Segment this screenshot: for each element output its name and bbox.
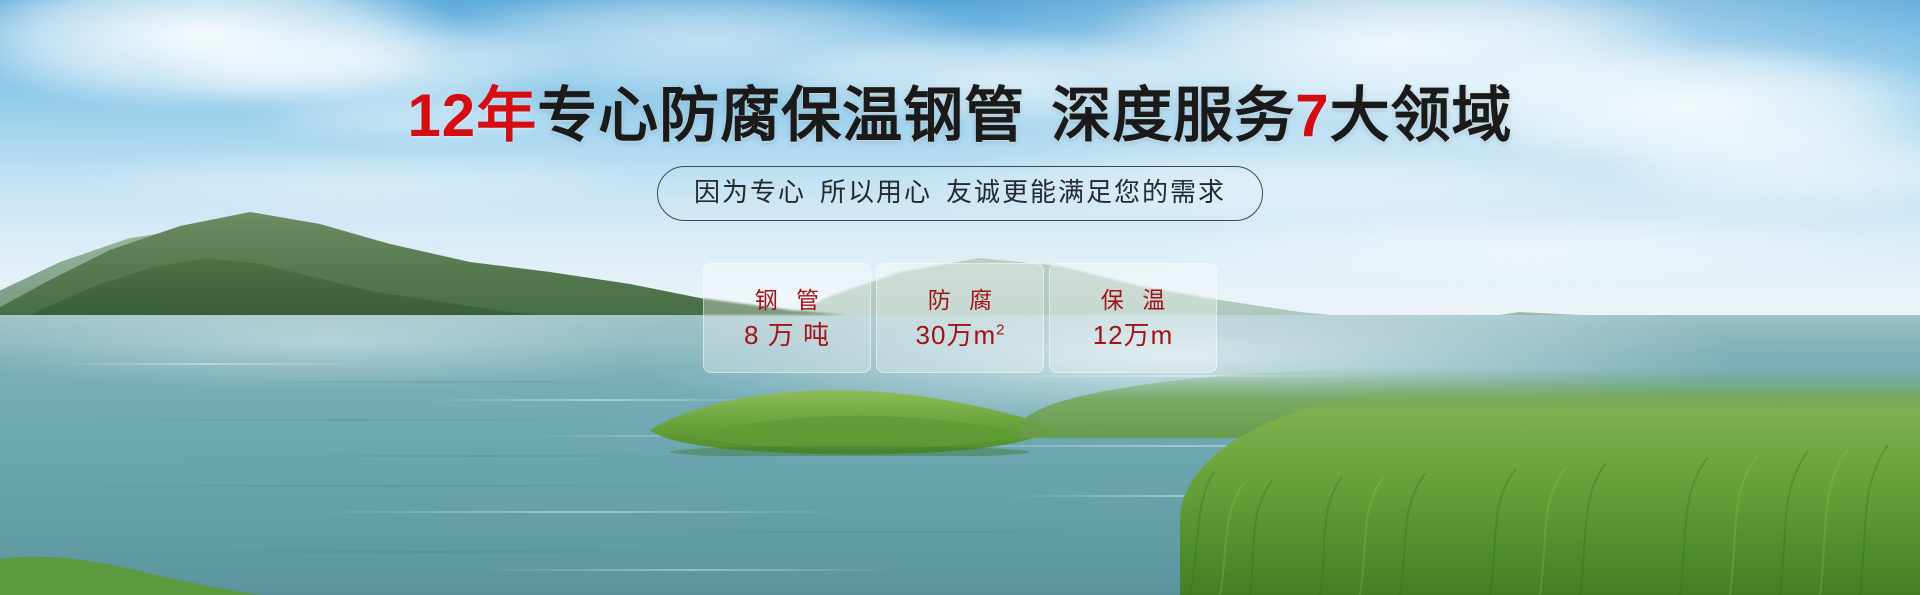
- stat-card-value: 8 万 吨: [744, 322, 830, 348]
- subtitle-container: 因为专心所以用心友诚更能满足您的需求: [0, 166, 1920, 221]
- headline-part-two: 深度服务: [1051, 82, 1295, 149]
- subtitle-segment-2: 所以用心: [820, 177, 932, 207]
- subtitle-segment-3: 友诚更能满足您的需求: [946, 177, 1226, 207]
- left-foreground-grass: [0, 515, 260, 595]
- headline-part-three: 大领域: [1330, 82, 1513, 149]
- grass-islet: [640, 378, 1060, 456]
- stat-card-value: 30万m2: [916, 322, 1005, 348]
- stat-card-insulation: 保 温 12万m: [1049, 263, 1217, 373]
- subtitle-pill: 因为专心所以用心友诚更能满足您的需求: [657, 166, 1263, 221]
- page-title: 12年专心防腐保温钢管深度服务7大领域: [0, 86, 1920, 146]
- grass-texture: [1160, 385, 1920, 595]
- headline-years-unit: 年: [476, 82, 537, 149]
- headline-seven-number: 7: [1295, 82, 1329, 149]
- stat-card-group: 钢 管 8 万 吨 防 腐 30万m2 保 温 12万m: [0, 263, 1920, 373]
- stat-card-steel-pipe: 钢 管 8 万 吨: [703, 263, 871, 373]
- stat-card-label: 防 腐: [922, 289, 998, 312]
- stat-card-value: 12万m: [1093, 322, 1174, 348]
- stat-card-label: 钢 管: [749, 289, 825, 312]
- headline-part-one: 专心防腐保温钢管: [537, 82, 1025, 149]
- stat-card-label: 保 温: [1095, 289, 1171, 312]
- headline-years-number: 12: [407, 82, 476, 149]
- subtitle-segment-1: 因为专心: [694, 177, 806, 207]
- stat-card-unit-exponent: 2: [996, 321, 1004, 338]
- promo-banner: 12年专心防腐保温钢管深度服务7大领域 因为专心所以用心友诚更能满足您的需求 钢…: [0, 0, 1920, 595]
- stat-card-anticorrosion: 防 腐 30万m2: [876, 263, 1044, 373]
